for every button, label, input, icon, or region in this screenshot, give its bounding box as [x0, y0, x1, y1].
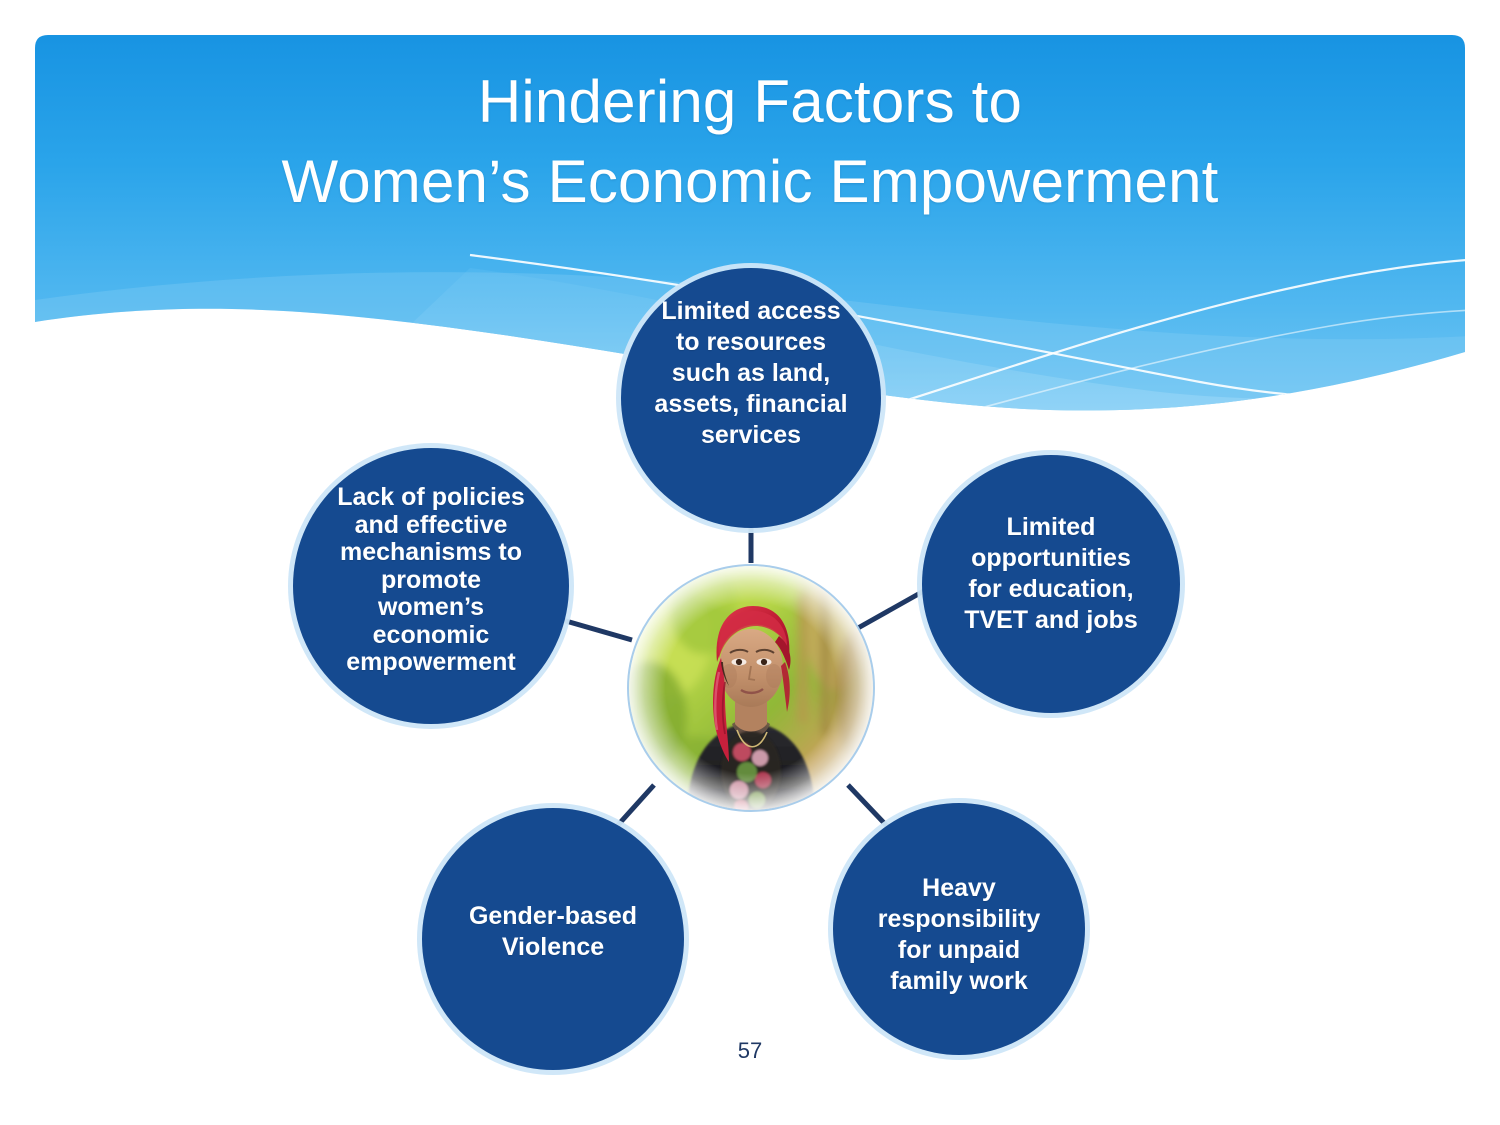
factor-label: Limited access to resources such as land… — [621, 296, 881, 451]
hindering-factors-diagram: Limited access to resources such as land… — [0, 0, 1500, 1125]
center-photo-woman — [629, 566, 873, 810]
factor-node-lack-of-policies[interactable]: Lack of policies and effective mechanism… — [293, 448, 569, 724]
factor-label: Gender-based Violence — [422, 901, 684, 963]
factor-node-limited-opportunities-education[interactable]: Limited opportunities for education, TVE… — [922, 455, 1180, 713]
center-photo-image — [629, 566, 873, 810]
factor-node-heavy-responsibility-unpaid-work[interactable]: Heavy responsibility for unpaid family w… — [833, 803, 1085, 1055]
factor-node-limited-access-to-resources[interactable]: Limited access to resources such as land… — [621, 268, 881, 528]
connector-lines — [0, 0, 1500, 1125]
factor-node-gender-based-violence[interactable]: Gender-based Violence — [422, 808, 684, 1070]
factor-label: Lack of policies and effective mechanism… — [293, 484, 569, 677]
factor-label: Heavy responsibility for unpaid family w… — [833, 873, 1085, 997]
factor-label: Limited opportunities for education, TVE… — [922, 512, 1180, 636]
slide: Hindering Factors to Women’s Economic Em… — [0, 0, 1500, 1125]
page-number: 57 — [0, 1038, 1500, 1064]
